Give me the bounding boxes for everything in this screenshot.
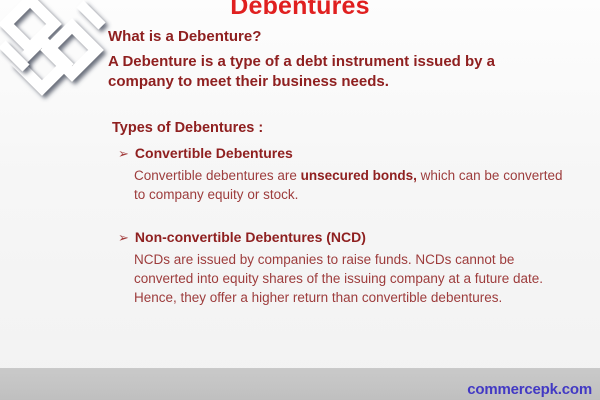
arrow-bullet-icon: ➢	[118, 144, 129, 163]
convertible-text-part1: Convertible debentures are	[134, 168, 301, 183]
list-item-non-convertible: ➢ Non-convertible Debentures (NCD)	[118, 228, 578, 247]
site-watermark: commercepk.com	[467, 381, 592, 399]
convertible-bold-term: unsecured bonds,	[301, 168, 417, 183]
slide-title-container: Debentures	[0, 0, 600, 20]
slide-canvas: Debentures What is a Debenture? A Debent…	[0, 0, 600, 400]
arrow-bullet-icon: ➢	[118, 228, 129, 247]
convertible-description: Convertible debentures are unsecured bon…	[134, 166, 564, 204]
types-heading: Types of Debentures :	[112, 118, 578, 138]
question-heading: What is a Debenture?	[108, 26, 578, 47]
list-item-label: Non-convertible Debentures (NCD)	[135, 228, 366, 247]
page-title: Debentures	[0, 0, 600, 20]
slide-content: What is a Debenture? A Debenture is a ty…	[108, 26, 578, 307]
definition-paragraph: A Debenture is a type of a debt instrume…	[108, 52, 560, 92]
non-convertible-description: NCDs are issued by companies to raise fu…	[134, 250, 564, 307]
list-item-convertible: ➢ Convertible Debentures	[118, 144, 578, 163]
list-item-label: Convertible Debentures	[135, 144, 293, 163]
